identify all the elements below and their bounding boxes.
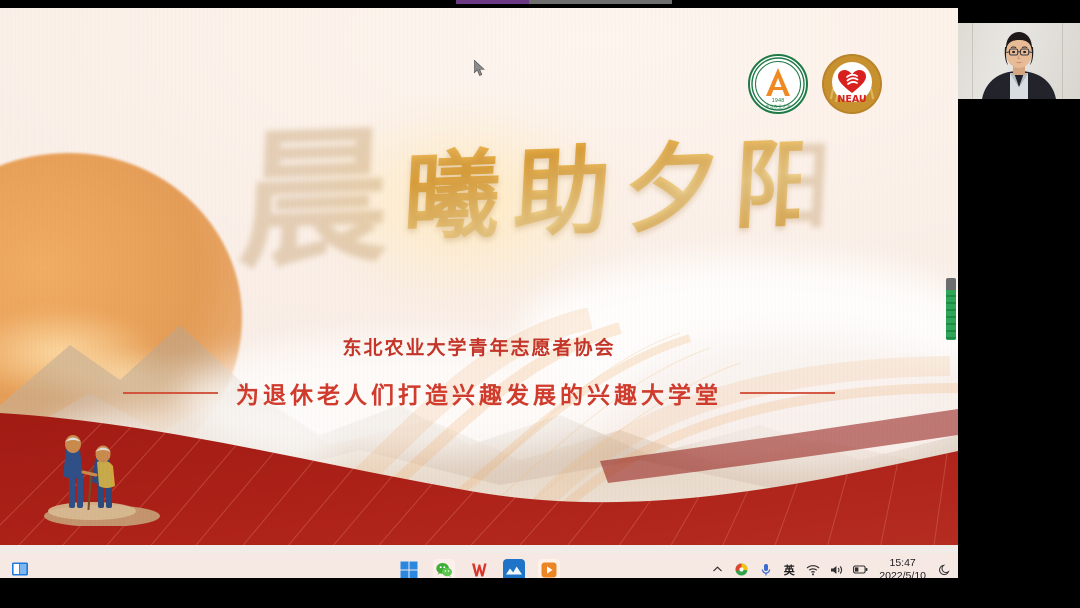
audio-level-fill	[946, 290, 956, 340]
shared-screen-area[interactable]: 1948 东北农业大学 NEAU	[0, 8, 958, 578]
progress-bar-track[interactable]	[456, 0, 672, 4]
clock-date: 2022/5/10	[879, 570, 926, 579]
audio-level-meter	[946, 278, 956, 340]
clock-time: 15:47	[890, 557, 916, 569]
wechat-icon[interactable]	[433, 559, 455, 579]
microphone-icon[interactable]	[758, 562, 773, 577]
security-shield-icon[interactable]	[734, 562, 749, 577]
slide-title-wrap: 晨曦助夕阳	[0, 104, 958, 294]
subtitle-tagline-row: 为退休老人们打造兴趣发展的兴趣大学堂	[0, 376, 958, 410]
screen-root: 1948 东北农业大学 NEAU	[0, 0, 1080, 608]
ime-language-icon[interactable]: 英	[782, 562, 796, 577]
divider-right	[740, 392, 835, 394]
wps-office-icon[interactable]	[468, 559, 490, 579]
presentation-slide[interactable]: 1948 东北农业大学 NEAU	[0, 8, 958, 545]
taskbar-clock[interactable]: 15:47 2022/5/10	[879, 557, 926, 578]
volume-icon[interactable]	[829, 562, 844, 577]
webcam-self-view[interactable]	[958, 0, 1080, 608]
battery-icon[interactable]	[853, 562, 868, 577]
progress-bar-fill	[456, 0, 529, 4]
subtitle-tagline: 为退休老人们打造兴趣发展的兴趣大学堂	[236, 376, 722, 410]
chevron-up-icon[interactable]	[710, 562, 725, 577]
divider-left	[123, 392, 218, 394]
windows-taskbar[interactable]: 英	[0, 553, 958, 578]
system-tray: 英	[710, 553, 952, 578]
moon-focus-icon[interactable]	[937, 562, 952, 577]
mouse-cursor	[474, 60, 486, 77]
webcam-video-frame	[958, 23, 1080, 99]
windows-start-icon[interactable]	[398, 559, 420, 579]
video-player-icon[interactable]	[538, 559, 560, 579]
meeting-app-icon[interactable]	[503, 559, 525, 579]
subtitle-organization: 东北农业大学青年志愿者协会	[0, 333, 958, 360]
page-title: 晨曦助夕阳	[235, 94, 806, 293]
wifi-icon[interactable]	[805, 562, 820, 577]
